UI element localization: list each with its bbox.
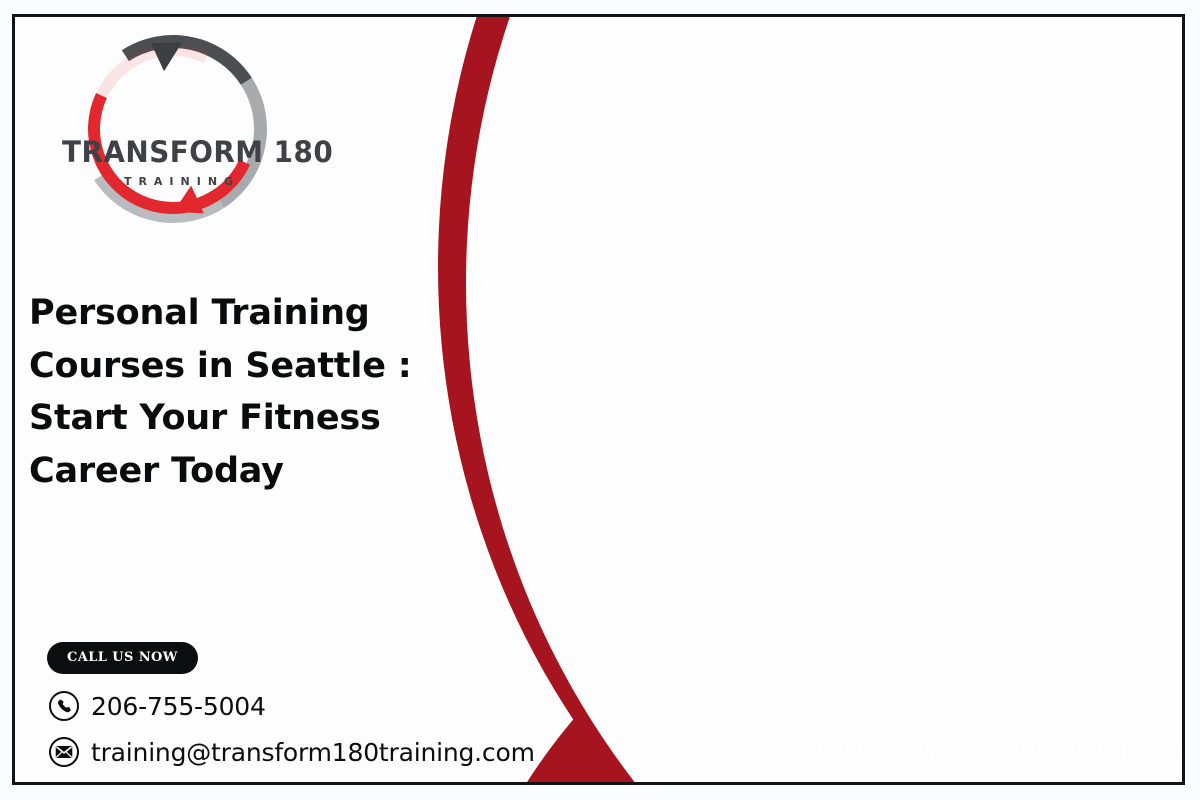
banner-canvas: HOIST	[15, 17, 1182, 782]
male-client-mouth	[691, 280, 715, 290]
female-trainer-logo-patch	[1123, 518, 1157, 544]
phone-icon	[49, 691, 79, 721]
page-title: Personal Training Courses in Seattle : S…	[29, 287, 479, 497]
phone-number: 206-755-5004	[91, 692, 266, 721]
contact-phone-row[interactable]: 206-755-5004	[49, 691, 266, 721]
machine-warning-label-yellow	[931, 222, 953, 314]
machine-pulley-lower	[861, 411, 883, 433]
machine-brand-plate: HOIST	[839, 74, 913, 90]
dumbbell	[976, 230, 1120, 357]
brand-logo[interactable]: TRANSFORM 180 TRAINING	[35, 33, 315, 223]
machine-pulley-upper	[855, 269, 883, 297]
website-url: www.transform180training.com	[811, 736, 1182, 764]
contact-email-row[interactable]: training@transform180training.com	[49, 737, 535, 767]
email-address: training@transform180training.com	[91, 738, 535, 767]
male-client-figure	[535, 147, 835, 667]
banner-root: HOIST	[0, 0, 1200, 800]
male-client-eye	[681, 237, 698, 246]
banner-frame: HOIST	[12, 14, 1185, 785]
logo-wordmark: TRANSFORM 180	[62, 135, 302, 169]
call-us-now-badge[interactable]: CALL US NOW	[47, 642, 198, 674]
dumbbell-plate-far	[1044, 251, 1116, 333]
logo-subword: TRAINING	[57, 175, 307, 188]
contact-website-row[interactable]: www.transform180training.com	[763, 733, 1182, 767]
envelope-icon	[49, 737, 79, 767]
logo-circular-arrows	[79, 35, 267, 223]
globe-icon	[763, 733, 797, 767]
